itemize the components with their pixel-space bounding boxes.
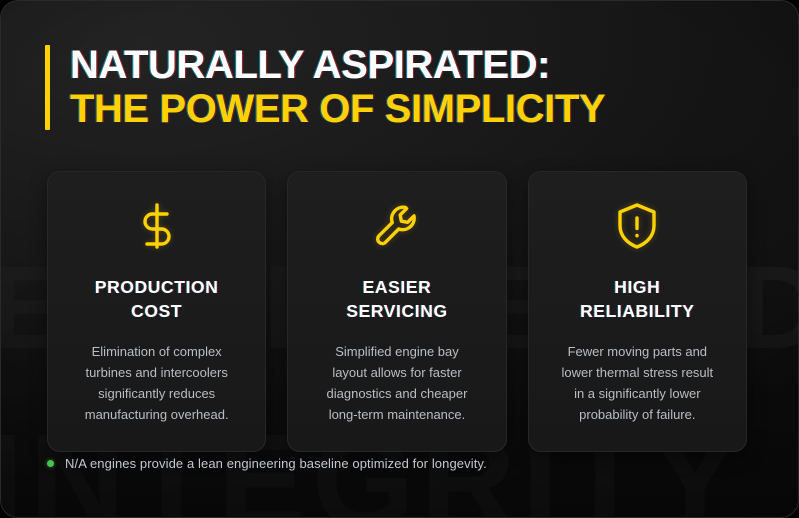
feature-card-production-cost[interactable]: PRODUCTION COST Elimination of complex t… bbox=[47, 171, 266, 452]
dollar-sign-icon bbox=[136, 198, 178, 254]
footer-note: N/A engines provide a lean engineering b… bbox=[47, 456, 487, 471]
page-title: NATURALLY ASPIRATED: THE POWER OF SIMPLI… bbox=[70, 45, 605, 130]
feature-card-body: Fewer moving parts and lower thermal str… bbox=[561, 341, 713, 425]
feature-card-title: HIGH RELIABILITY bbox=[580, 276, 695, 323]
feature-card-body: Simplified engine bay layout allows for … bbox=[327, 341, 468, 425]
feature-card-row: PRODUCTION COST Elimination of complex t… bbox=[47, 171, 747, 452]
feature-card-easier-servicing[interactable]: EASIER SERVICING Simplified engine bay l… bbox=[287, 171, 506, 452]
slide-root: ENGINEERED INTEGRITY NATURALLY ASPIRATED… bbox=[0, 0, 799, 518]
accent-bar bbox=[45, 45, 50, 130]
feature-card-high-reliability[interactable]: HIGH RELIABILITY Fewer moving parts and … bbox=[528, 171, 747, 452]
wrench-icon bbox=[372, 198, 422, 254]
feature-card-title: EASIER SERVICING bbox=[346, 276, 447, 323]
feature-card-body: Elimination of complex turbines and inte… bbox=[85, 341, 229, 425]
footer-note-text: N/A engines provide a lean engineering b… bbox=[65, 456, 487, 471]
title-line-primary: NATURALLY ASPIRATED: bbox=[70, 45, 605, 86]
bullet-dot-icon bbox=[47, 460, 54, 467]
header: NATURALLY ASPIRATED: THE POWER OF SIMPLI… bbox=[45, 45, 605, 130]
title-line-secondary: THE POWER OF SIMPLICITY bbox=[70, 89, 605, 130]
shield-alert-icon bbox=[615, 198, 659, 254]
feature-card-title: PRODUCTION COST bbox=[95, 276, 219, 323]
